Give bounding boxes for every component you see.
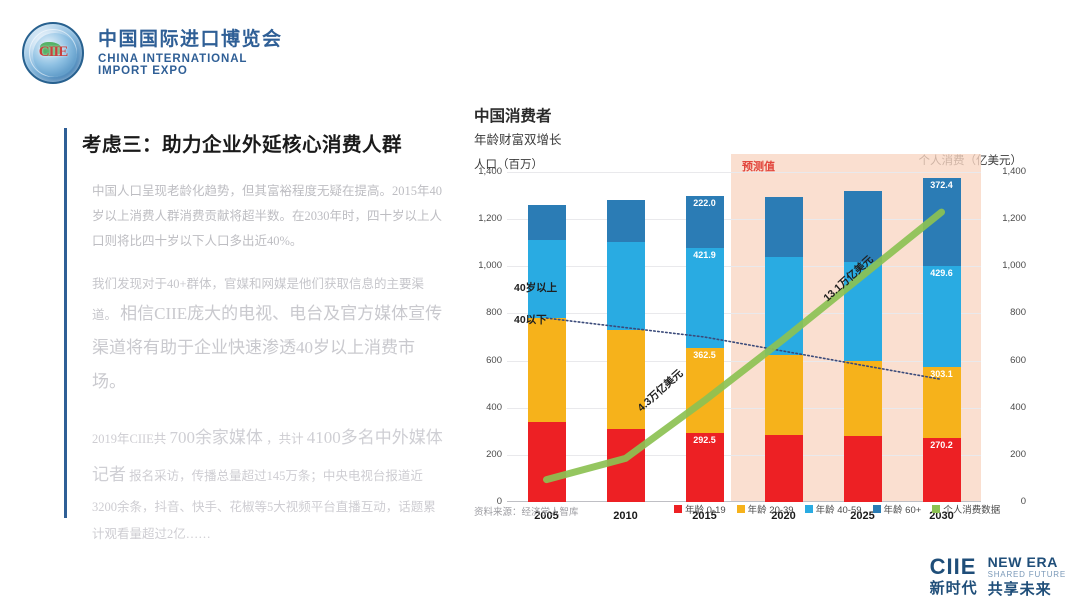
y-tick-label: 1,400 <box>474 166 502 177</box>
bar-value-label: 429.6 <box>923 268 961 278</box>
paragraph-demographics: 中国人口呈现老龄化趋势，但其富裕程度无疑在提高。2015年40岁以上消费人群消费… <box>92 179 444 254</box>
gridline <box>507 266 981 267</box>
bar-segment[interactable]: 292.5 <box>686 433 724 502</box>
legend-item[interactable]: 个人消费数据 <box>932 502 1000 516</box>
logo-text-block: 中国国际进口博览会 CHINA INTERNATIONAL IMPORT EXP… <box>98 29 283 77</box>
left-text-column: 考虑三：助力企业外延核心消费人群 中国人口呈现老龄化趋势，但其富裕程度无疑在提高… <box>64 128 444 549</box>
legend-label: 年龄 0-19 <box>685 502 726 516</box>
gridline <box>507 172 981 173</box>
legend-swatch <box>805 505 813 513</box>
legend-item[interactable]: 年龄 20-39 <box>737 502 794 516</box>
gridline <box>507 455 981 456</box>
legend-label: 个人消费数据 <box>943 502 1000 516</box>
bar-segment[interactable] <box>765 197 803 257</box>
legend-swatch <box>737 505 745 513</box>
footer-new-era-en: NEW ERA <box>988 555 1066 570</box>
bar-segment[interactable] <box>765 355 803 435</box>
x-tick-label: 2010 <box>601 510 651 522</box>
gridline <box>507 361 981 362</box>
legend-label: 年龄 40-59 <box>816 502 862 516</box>
bar-segment[interactable] <box>844 191 882 262</box>
y-tick-label: 200 <box>474 449 502 460</box>
y-tick-label: 800 <box>474 307 502 318</box>
bar-segment[interactable] <box>844 436 882 502</box>
bar-value-label: 372.4 <box>923 180 961 190</box>
paragraph-media-stats: 2019年CIIE共 700余家媒体 ，共计 4100多名中外媒体记者 报名采访… <box>92 419 444 549</box>
bar-value-label: 303.1 <box>923 369 961 379</box>
chart-legend: 年龄 0-19年龄 20-39年龄 40-59年龄 60+个人消费数据 <box>674 502 1000 516</box>
y-tick-label-right: 200 <box>996 449 1026 460</box>
gridline <box>507 219 981 220</box>
bar-value-label: 270.2 <box>923 440 961 450</box>
annotation-over-40: 40岁以上 <box>514 280 557 295</box>
bar-segment[interactable]: 270.2 <box>923 438 961 502</box>
legend-item[interactable]: 年龄 40-59 <box>805 502 862 516</box>
chart-subtitle: 年龄财富双增长 <box>474 129 1026 148</box>
y-tick-label-right: 600 <box>996 355 1026 366</box>
bar-segment[interactable] <box>528 205 566 240</box>
bar-value-label: 292.5 <box>686 435 724 445</box>
para3-emphasis-outlets: 700余家媒体 <box>169 428 263 447</box>
legend-swatch <box>873 505 881 513</box>
bar-segment[interactable] <box>607 200 645 241</box>
bar-value-label: 222.0 <box>686 198 724 208</box>
annotation-under-40: 40以下 <box>514 312 547 327</box>
bar-value-label: 362.5 <box>686 350 724 360</box>
para3-lead: 2019年CIIE共 <box>92 432 166 446</box>
footer-new-era-cn: 新时代 <box>930 581 978 597</box>
bar-segment[interactable]: 372.4 <box>923 178 961 266</box>
para3-mid: ，共计 <box>266 432 304 446</box>
y-tick-label-right: 1,400 <box>996 166 1026 177</box>
bar-segment[interactable]: 429.6 <box>923 266 961 367</box>
bar-segment[interactable]: 421.9 <box>686 248 724 347</box>
bar-segment[interactable] <box>607 242 645 330</box>
y-tick-label: 1,000 <box>474 260 502 271</box>
seal-wordmark: CIIE <box>24 44 82 61</box>
chart-source-note: 资料来源：经济学人智库 <box>474 504 579 518</box>
logo-chinese-name: 中国国际进口博览会 <box>98 29 283 51</box>
bar-segment[interactable] <box>765 257 803 355</box>
bar-segment[interactable] <box>528 422 566 502</box>
legend-swatch <box>674 505 682 513</box>
logo-english-line2: IMPORT EXPO <box>98 65 283 77</box>
paragraph-media-channels: 我们发现对于40+群体，官媒和网媒是他们获取信息的主要渠道。 相信CIIE庞大的… <box>92 272 444 399</box>
legend-item[interactable]: 年龄 0-19 <box>674 502 726 516</box>
chart-title: 中国消费者 <box>474 104 1026 126</box>
footer-branding: CIIE 新时代 NEW ERA SHARED FUTURE 共享未来 <box>930 555 1066 598</box>
y-tick-label: 600 <box>474 355 502 366</box>
ciie-seal-icon: CIIE <box>22 22 84 84</box>
bar-segment[interactable] <box>607 330 645 429</box>
y-tick-label-right: 0 <box>996 496 1026 507</box>
bar-segment[interactable]: 362.5 <box>686 348 724 433</box>
y-tick-label-right: 800 <box>996 307 1026 318</box>
bar-segment[interactable] <box>528 318 566 422</box>
y-tick-label-right: 1,200 <box>996 213 1026 224</box>
y-tick-label-right: 400 <box>996 402 1026 413</box>
bar-value-label: 421.9 <box>686 250 724 260</box>
plot-area: 预测值 02004006008001,0001,2001,400 0200400… <box>474 172 1026 502</box>
ciie-logo: CIIE 中国国际进口博览会 CHINA INTERNATIONAL IMPOR… <box>22 22 283 84</box>
para3-tail: 报名采访，传播总量超过145万条；中央电视台报道近3200余条，抖音、快手、花椒… <box>92 469 436 541</box>
chart-panel: 中国消费者 年龄财富双增长 人口（百万） 个人消费（亿美元） 预测值 02004… <box>474 104 1026 529</box>
legend-label: 年龄 20-39 <box>748 502 794 516</box>
bar-segment[interactable] <box>765 435 803 502</box>
bar-segment[interactable] <box>844 361 882 436</box>
bar-segment[interactable]: 303.1 <box>923 367 961 438</box>
y-tick-label: 400 <box>474 402 502 413</box>
gridline <box>507 408 981 409</box>
bar-segment[interactable] <box>607 429 645 502</box>
page-title: 考虑三：助力企业外延核心消费人群 <box>82 128 444 157</box>
footer-ciie-block: CIIE 新时代 <box>930 555 978 597</box>
y-tick-label-right: 1,000 <box>996 260 1026 271</box>
legend-swatch <box>932 505 940 513</box>
footer-ciie-wordmark: CIIE <box>930 555 978 578</box>
footer-slogan-block: NEW ERA SHARED FUTURE 共享未来 <box>988 555 1066 598</box>
legend-item[interactable]: 年龄 60+ <box>873 502 922 516</box>
para2-emphasis: 相信CIIE庞大的电视、电台及官方媒体宣传渠道将有助于企业快速渗透40岁以上消费… <box>92 304 442 391</box>
y-tick-label: 1,200 <box>474 213 502 224</box>
footer-shared-future-cn: 共享未来 <box>988 582 1066 598</box>
bar-segment[interactable]: 222.0 <box>686 196 724 248</box>
legend-label: 年龄 60+ <box>884 502 922 516</box>
logo-english-line1: CHINA INTERNATIONAL <box>98 53 283 65</box>
footer-shared-future-en: SHARED FUTURE <box>988 571 1066 579</box>
gridline <box>507 313 981 314</box>
